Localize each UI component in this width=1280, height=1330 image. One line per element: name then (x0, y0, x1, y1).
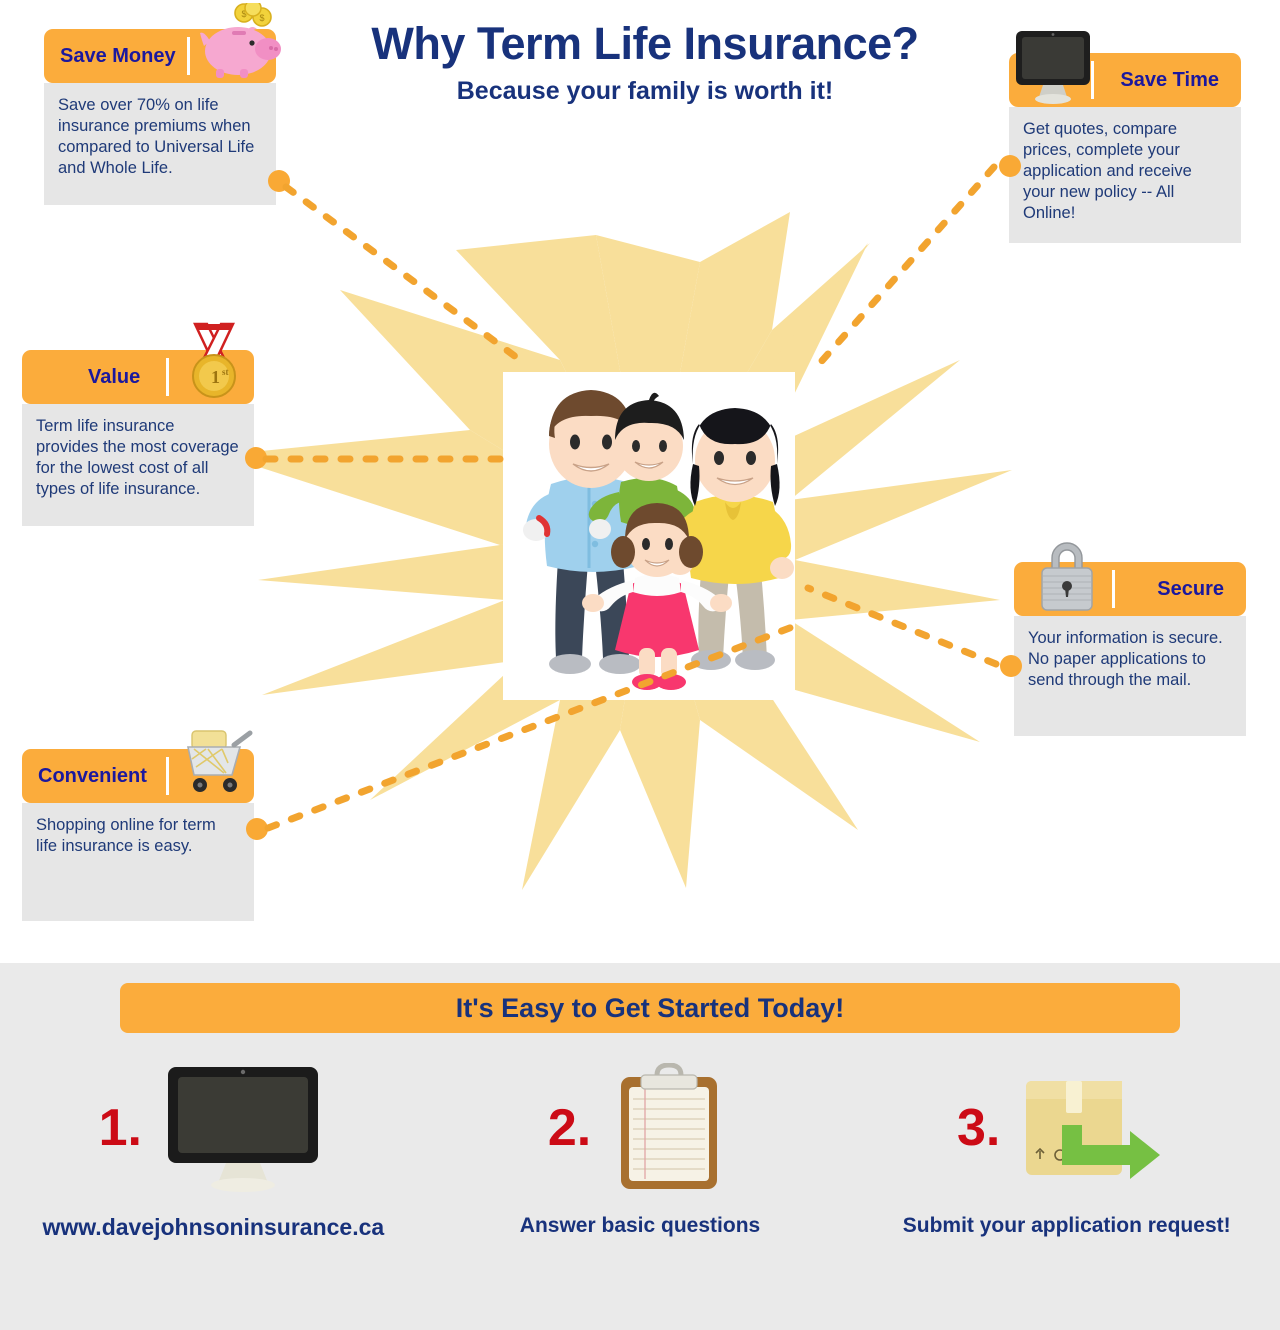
medal-rank-suffix: st (222, 367, 229, 377)
connector-line-secure (808, 588, 996, 664)
connector-line-save-money (286, 187, 520, 360)
piggy-bank-icon: $ $ (196, 3, 282, 83)
step-1-caption[interactable]: www.davejohnsoninsurance.ca (0, 1214, 427, 1241)
medal-icon: 1 st (177, 322, 251, 404)
step-3-caption: Submit your application request! (853, 1214, 1280, 1238)
card-save-money-title: Save Money (60, 45, 176, 68)
connector-line-save-time (812, 167, 994, 372)
monitor-icon (1013, 29, 1093, 107)
package-arrow-icon (1016, 1063, 1176, 1193)
padlock-icon (1032, 536, 1102, 616)
step-2-caption: Answer basic questions (427, 1214, 854, 1238)
step-3[interactable]: 3. Submit your applicat (853, 1058, 1280, 1273)
card-secure-title: Secure (1157, 578, 1224, 601)
monitor-icon (158, 1063, 328, 1193)
connector-lines (0, 0, 1280, 960)
step-3-row: 3. (853, 1058, 1280, 1198)
card-convenient-title: Convenient (38, 765, 147, 788)
get-started-panel: It's Easy to Get Started Today! 1. www.d… (0, 963, 1280, 1330)
step-2[interactable]: 2. Answer (427, 1058, 854, 1273)
infographic-root: Why Term Life Insurance? Because your fa… (0, 0, 1280, 1330)
step-1[interactable]: 1. www.davejohnsoninsurance.ca (0, 1058, 427, 1273)
step-2-number: 2. (548, 1102, 591, 1154)
card-save-time-title: Save Time (1120, 69, 1219, 92)
steps-row: 1. www.davejohnsoninsurance.ca 2. (0, 1058, 1280, 1273)
svg-text:$: $ (259, 13, 264, 23)
step-2-row: 2. (427, 1058, 854, 1198)
step-1-number: 1. (99, 1102, 142, 1154)
connector-line-convenient (268, 624, 800, 828)
get-started-banner[interactable]: It's Easy to Get Started Today! (120, 983, 1180, 1033)
step-1-row: 1. (0, 1058, 427, 1198)
card-value-title: Value (88, 366, 140, 389)
get-started-banner-text: It's Easy to Get Started Today! (456, 993, 845, 1024)
shopping-cart-icon (174, 727, 260, 805)
step-3-number: 3. (957, 1102, 1000, 1154)
clipboard-icon (607, 1063, 732, 1193)
medal-rank: 1 (211, 367, 220, 387)
